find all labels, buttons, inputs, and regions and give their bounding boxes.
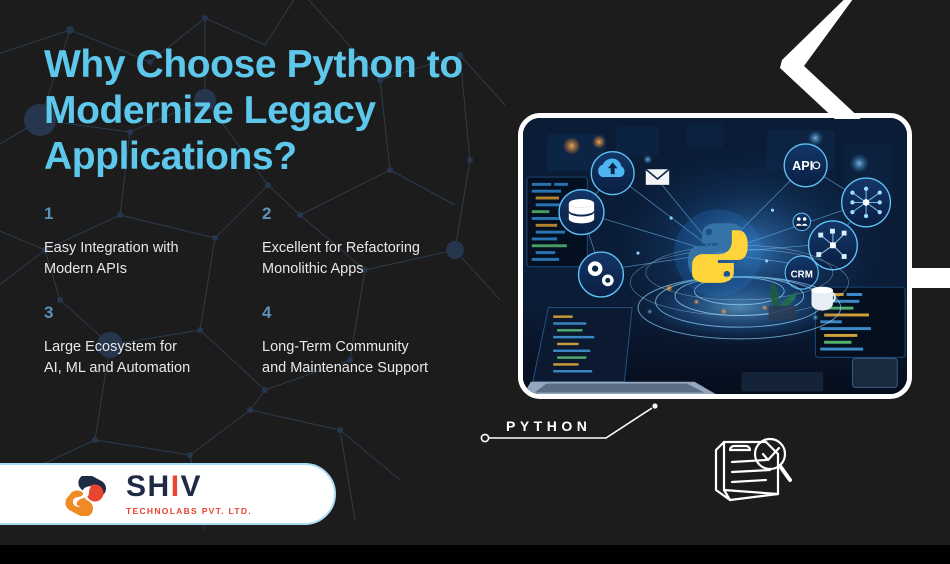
feature-item-4: 4 Long-Term Community and Maintenance Su… xyxy=(262,304,487,379)
gears-icon xyxy=(579,252,624,297)
logo-name-accent: I xyxy=(171,470,181,503)
infographic-canvas: Why Choose Python to Modernize Legacy Ap… xyxy=(0,0,950,564)
logo-name-part2: V xyxy=(181,470,203,503)
feature-item-2: 2 Excellent for Refactoring Monolithic A… xyxy=(262,205,487,280)
python-logo-icon xyxy=(674,209,761,296)
python-caption: PYTHON xyxy=(506,418,591,434)
database-icon xyxy=(559,190,604,235)
hero-image: API xyxy=(523,118,907,394)
white-chevron-arrow-icon xyxy=(768,0,878,119)
feature-number: 1 xyxy=(44,205,262,222)
logo-text-block: SHIV TECHNOLABS PVT. LTD. xyxy=(126,472,252,516)
envelope-icon xyxy=(646,169,669,185)
feature-label: Large Ecosystem for AI, ML and Automatio… xyxy=(44,337,262,379)
logo-tagline: TECHNOLABS PVT. LTD. xyxy=(126,506,252,516)
api-node-icon: API xyxy=(784,144,827,187)
feature-number: 3 xyxy=(44,304,262,321)
page-title: Why Choose Python to Modernize Legacy Ap… xyxy=(44,42,514,180)
right-edge-bar xyxy=(912,268,950,288)
bottom-strip xyxy=(0,545,950,564)
feature-list: 1 Easy Integration with Modern APIs 2 Ex… xyxy=(44,205,504,379)
shiv-logo-mark-icon xyxy=(64,476,108,516)
feature-item-1: 1 Easy Integration with Modern APIs xyxy=(44,205,262,280)
feature-number: 4 xyxy=(262,304,487,321)
neural-network-icon xyxy=(842,178,891,227)
hero-image-card: API xyxy=(518,113,912,399)
people-icon xyxy=(793,213,811,231)
feature-label: Long-Term Community and Maintenance Supp… xyxy=(262,337,487,379)
feature-label: Easy Integration with Modern APIs xyxy=(44,238,262,280)
logo-name: SHIV xyxy=(126,472,202,502)
svg-text:API: API xyxy=(792,159,813,173)
clipboard-checkmark-magnifier-icon xyxy=(708,428,796,508)
brand-logo-pill: SHIV TECHNOLABS PVT. LTD. xyxy=(0,463,336,525)
feature-number: 2 xyxy=(262,205,487,222)
cloud-upload-icon xyxy=(591,152,634,195)
feature-item-3: 3 Large Ecosystem for AI, ML and Automat… xyxy=(44,304,262,379)
network-graph-icon xyxy=(809,221,858,270)
logo-name-part1: SH xyxy=(126,470,171,503)
feature-label: Excellent for Refactoring Monolithic App… xyxy=(262,238,487,280)
